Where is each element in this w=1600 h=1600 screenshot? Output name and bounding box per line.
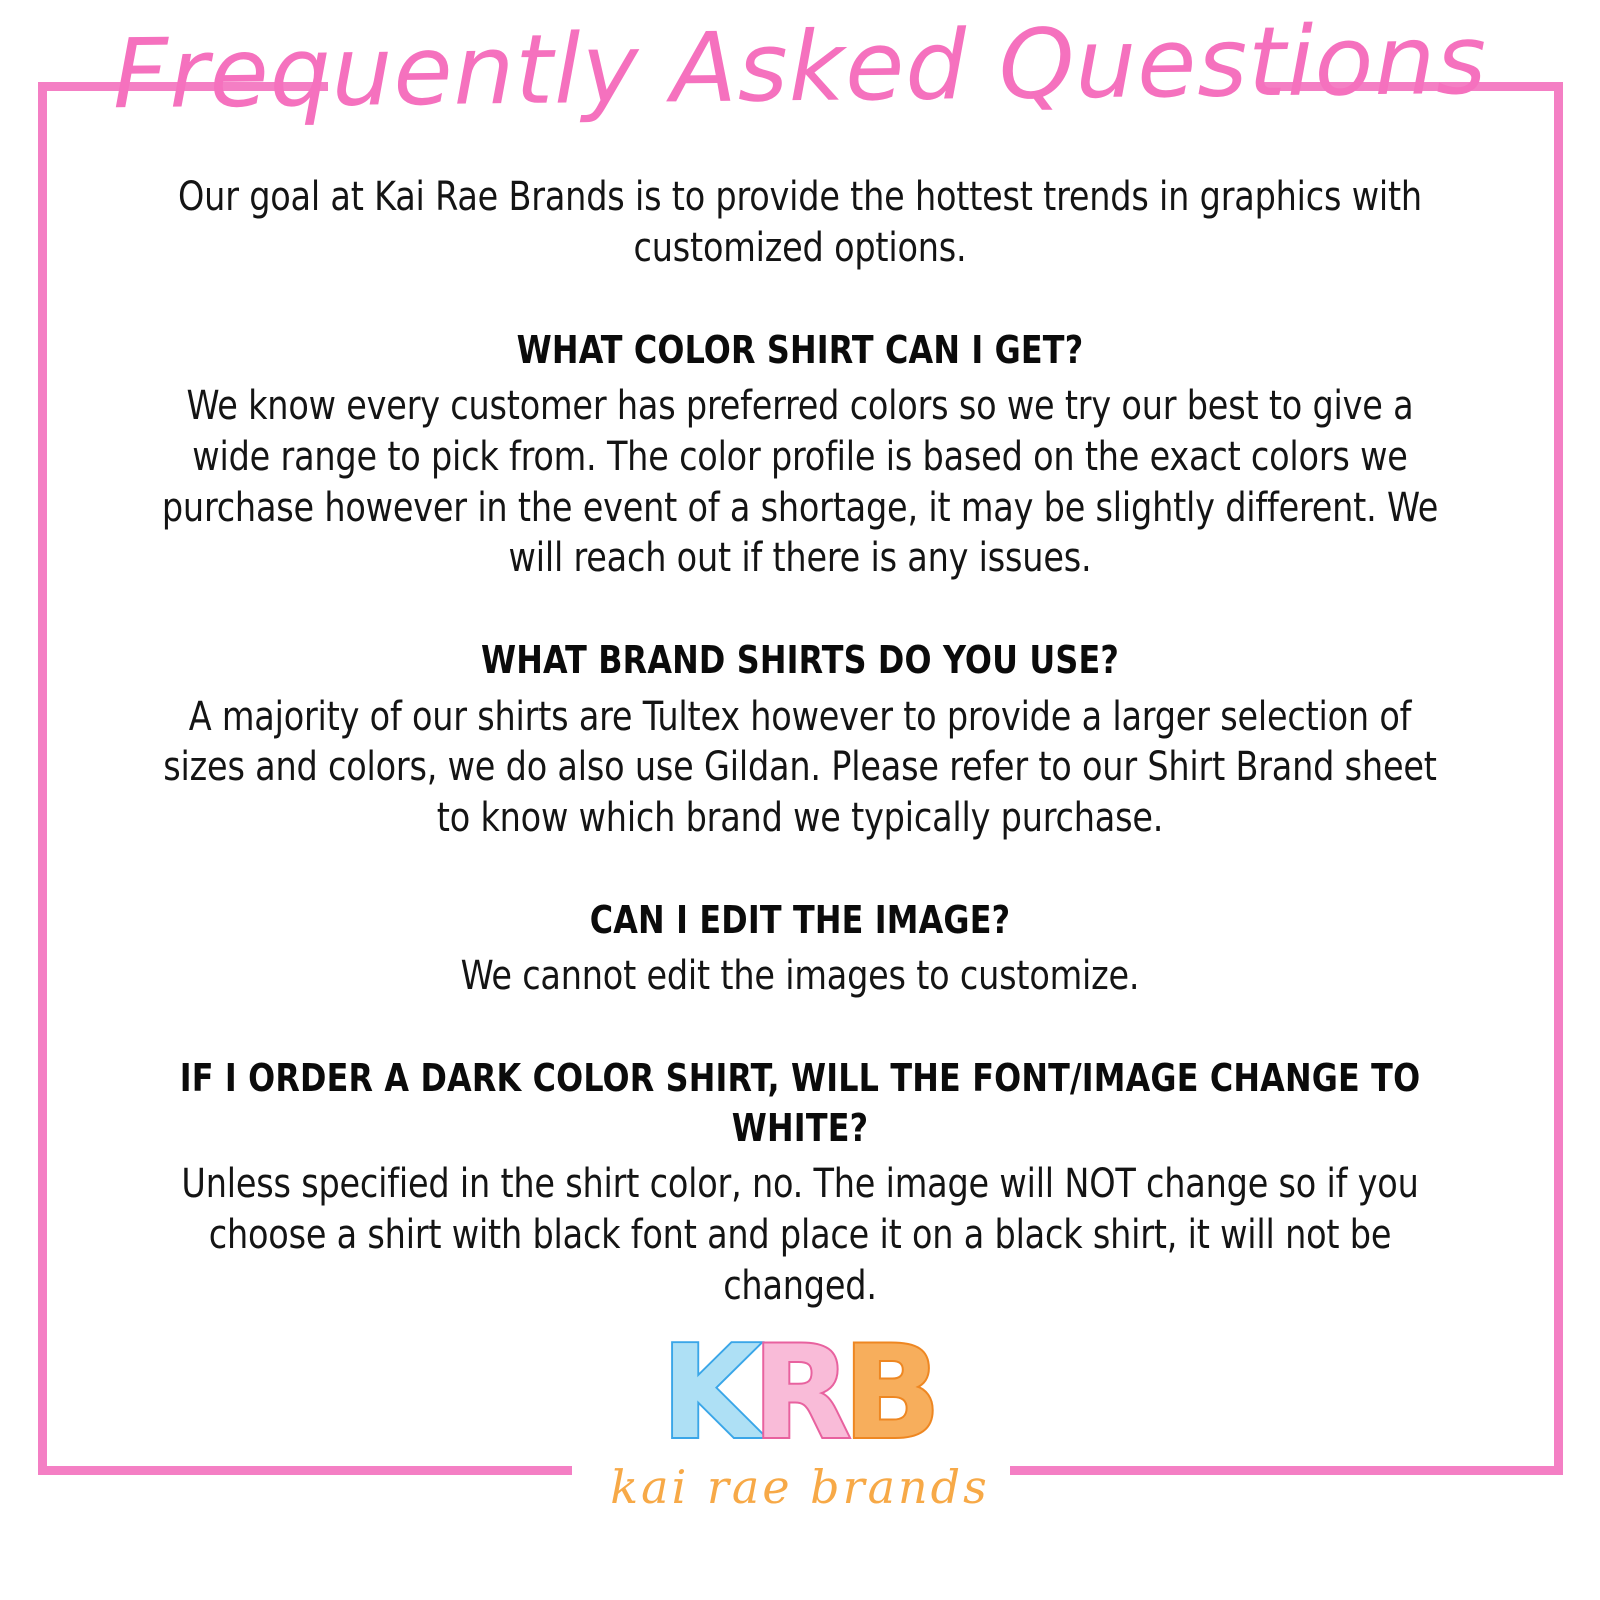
faq-answer-3: We cannot edit the images to customize.: [158, 951, 1441, 1002]
logo-letter-r: R: [753, 1330, 850, 1458]
faq-question-1: WHAT COLOR SHIRT CAN I GET?: [158, 326, 1441, 375]
faq-item-1: WHAT COLOR SHIRT CAN I GET? We know ever…: [110, 326, 1490, 585]
faq-item-2: WHAT BRAND SHIRTS DO YOU USE? A majority…: [110, 636, 1490, 844]
faq-question-4: IF I ORDER A DARK COLOR SHIRT, WILL THE …: [158, 1054, 1441, 1153]
faq-question-2: WHAT BRAND SHIRTS DO YOU USE?: [158, 636, 1441, 685]
faq-answer-2: A majority of our shirts are Tultex howe…: [158, 692, 1441, 844]
intro-paragraph: Our goal at Kai Rae Brands is to provide…: [158, 172, 1441, 274]
faq-item-4: IF I ORDER A DARK COLOR SHIRT, WILL THE …: [110, 1054, 1490, 1311]
frame-border-left: [38, 82, 47, 1475]
faq-answer-1: We know every customer has preferred col…: [158, 381, 1441, 584]
faq-content: Our goal at Kai Rae Brands is to provide…: [110, 172, 1490, 1311]
logo-letter-k: K: [661, 1330, 758, 1458]
logo-letter-b: B: [843, 1330, 939, 1458]
faq-question-3: CAN I EDIT THE IMAGE?: [158, 896, 1441, 945]
logo-letters: KRB: [0, 1330, 1600, 1458]
faq-answer-4: Unless specified in the shirt color, no.…: [158, 1159, 1441, 1311]
frame-border-right: [1554, 82, 1563, 1475]
brand-logo: KRB kai rae brands: [0, 1330, 1600, 1510]
page-title: Frequently Asked Questions: [0, 2, 1600, 134]
faq-item-3: CAN I EDIT THE IMAGE? We cannot edit the…: [110, 896, 1490, 1002]
logo-wordmark: kai rae brands: [0, 1464, 1600, 1510]
